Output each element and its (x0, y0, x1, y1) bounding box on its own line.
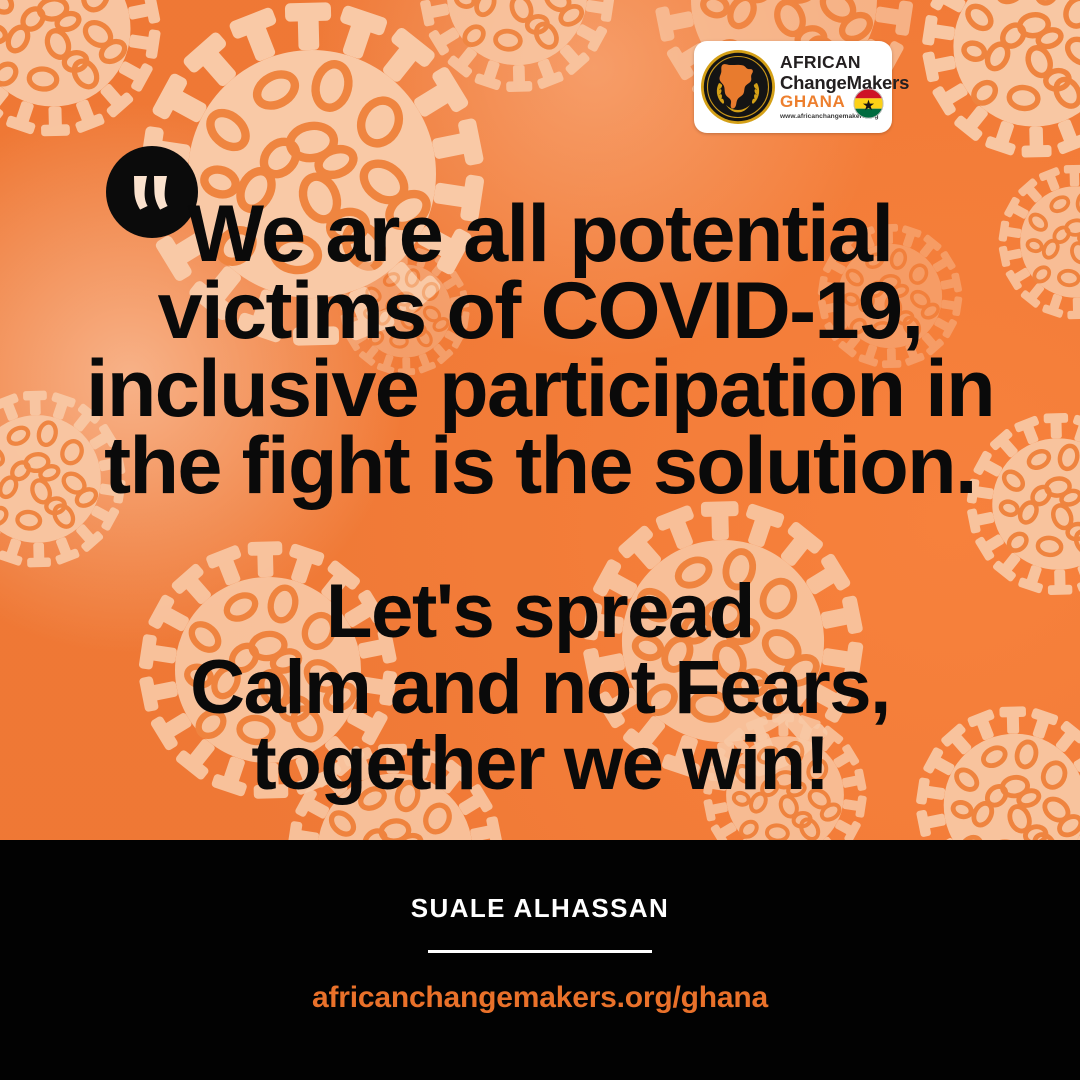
quote-primary-line-4: the fight is the solution. (40, 428, 1040, 505)
quote-secondary-line-1: Let's spread (40, 574, 1040, 650)
poster-footer: SUALE ALHASSAN africanchangemakers.org/g… (0, 840, 1080, 1080)
logo-wordmark: AFRICAN ChangeMakers GHANA www.africanch… (776, 54, 885, 120)
quote-primary-line-3: inclusive participation in (40, 351, 1040, 428)
poster-artwork-area: AFRICAN ChangeMakers GHANA www.africanch… (0, 0, 1080, 840)
quote-secondary-line-2: Calm and not Fears, (40, 650, 1040, 726)
logo-line-african: AFRICAN (780, 54, 885, 72)
quote-primary-line-2: victims of COVID-19, (40, 273, 1040, 350)
coronavirus-particle-icon (404, 0, 630, 108)
coronavirus-particle-icon (0, 0, 178, 154)
quote-paragraph-secondary: Let's spreadCalm and not Fears,together … (40, 574, 1040, 802)
footer-website-link[interactable]: africanchangemakers.org/ghana (0, 981, 1080, 1015)
quote-poster: AFRICAN ChangeMakers GHANA www.africanch… (0, 0, 1080, 1080)
coronavirus-particle-icon (904, 0, 1080, 176)
author-name: SUALE ALHASSAN (0, 893, 1080, 924)
quote-secondary-line-3: together we win! (40, 726, 1040, 802)
ghana-flag-circle-icon (853, 88, 884, 119)
quote-paragraph-primary: We are all potentialvictims of COVID-19,… (40, 196, 1040, 505)
brand-logo-badge[interactable]: AFRICAN ChangeMakers GHANA www.africanch… (694, 41, 892, 133)
footer-divider (428, 950, 652, 953)
africa-map-laurel-emblem-icon (700, 49, 776, 125)
quote-primary-line-1: We are all potential (40, 196, 1040, 273)
